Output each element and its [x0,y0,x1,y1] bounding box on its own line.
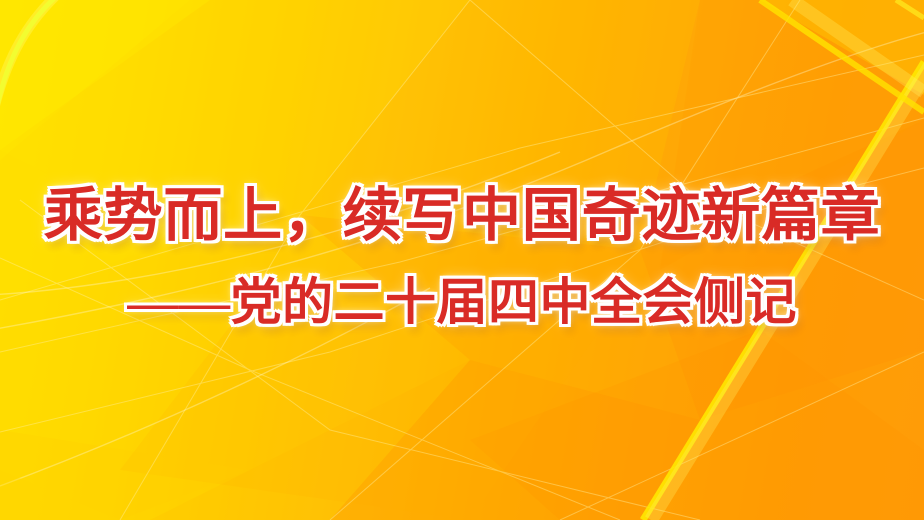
news-headline-banner: 乘势而上，续写中国奇迹新篇章 ——党的二十届四中全会侧记 [0,0,924,520]
page-title: 乘势而上，续写中国奇迹新篇章 [44,187,881,245]
page-subtitle: ——党的二十届四中全会侧记 [127,277,797,327]
headline-text-block: 乘势而上，续写中国奇迹新篇章 ——党的二十届四中全会侧记 [0,0,924,520]
